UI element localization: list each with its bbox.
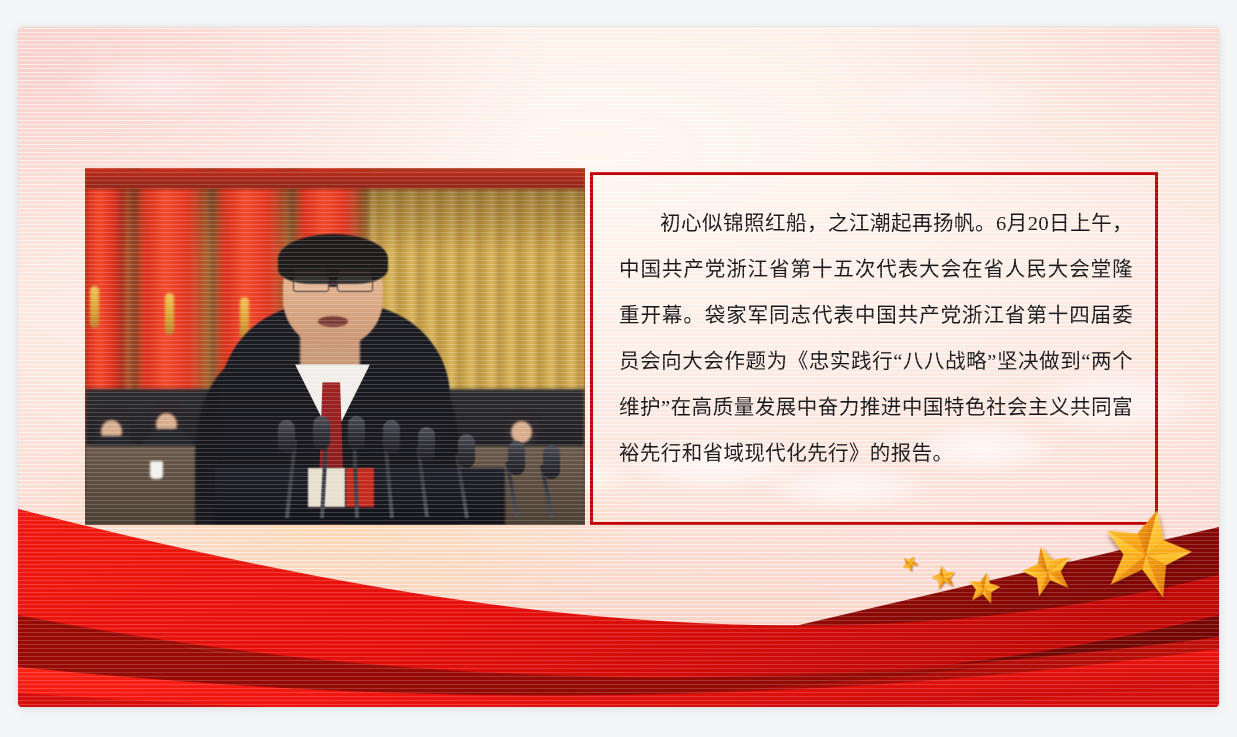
speaker-eyeglass-left xyxy=(293,277,329,292)
conference-speech-photo xyxy=(85,168,585,525)
microphone-head xyxy=(418,427,435,461)
microphone-head xyxy=(543,445,560,479)
curtain-tassel xyxy=(165,293,174,335)
presentation-slide: 初心似锦照红船，之江潮起再扬帆。6月20日上午，中国共产党浙江省第十五次代表大会… xyxy=(18,27,1219,707)
teacup xyxy=(150,461,163,479)
microphone-head xyxy=(458,434,475,468)
audience-backdrop-strip xyxy=(85,168,585,189)
microphone-head xyxy=(278,420,295,454)
audience-member-face xyxy=(511,421,532,442)
speaker-eyebrow-right xyxy=(338,270,371,275)
microphone-head xyxy=(508,441,525,475)
red-ribbon-swoosh xyxy=(18,487,1219,707)
article-text-box: 初心似锦照红船，之江潮起再扬帆。6月20日上午，中国共产党浙江省第十五次代表大会… xyxy=(590,172,1158,525)
curtain-tassel xyxy=(90,286,99,328)
microphone-head xyxy=(383,420,400,454)
slide-page: 初心似锦照红船，之江潮起再扬帆。6月20日上午，中国共产党浙江省第十五次代表大会… xyxy=(0,0,1237,737)
article-body-text: 初心似锦照红船，之江潮起再扬帆。6月20日上午，中国共产党浙江省第十五次代表大会… xyxy=(619,201,1133,477)
microphone-head xyxy=(313,416,330,450)
cloud-decoration xyxy=(859,68,1059,132)
speaker-mouth xyxy=(318,316,348,327)
microphone-head xyxy=(348,416,365,450)
cloud-decoration xyxy=(66,54,236,114)
speaker-eyebrow-left xyxy=(294,270,327,275)
speaker-eyeglass-right xyxy=(337,277,373,292)
speaker-eyeglass-bridge xyxy=(329,282,337,286)
